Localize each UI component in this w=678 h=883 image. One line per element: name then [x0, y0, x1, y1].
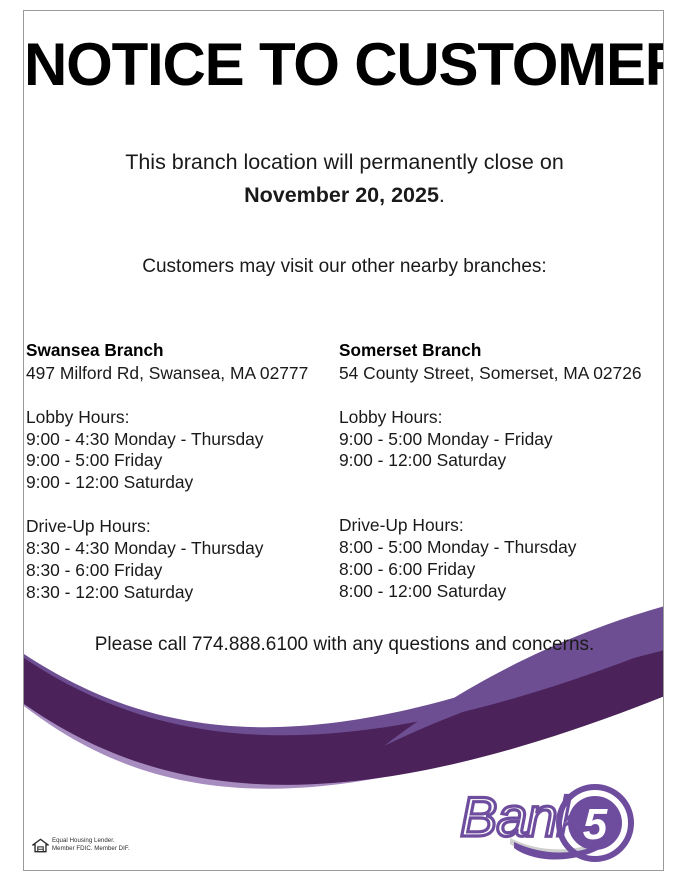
driveup-hours-line: 8:30 - 4:30 Monday - Thursday	[26, 538, 346, 560]
legal-line-2: Member FDIC. Member DIF.	[52, 845, 130, 854]
lobby-hours-line: 9:00 - 5:00 Monday - Friday	[339, 429, 664, 451]
swoosh-corner-wedge	[384, 606, 664, 746]
intro-text-before: This branch location will permanently cl…	[125, 150, 564, 174]
branch-name: Somerset Branch	[339, 340, 664, 362]
notice-page: NOTICE TO CUSTOMERS This branch location…	[23, 10, 664, 871]
driveup-hours-line: 8:00 - 12:00 Saturday	[339, 581, 664, 603]
logo-badge-number: 5	[583, 800, 608, 849]
branch-list: Swansea Branch 497 Milford Rd, Swansea, …	[24, 340, 664, 620]
lobby-hours-title: Lobby Hours:	[339, 407, 664, 429]
driveup-hours-line: 8:30 - 6:00 Friday	[26, 560, 346, 582]
driveup-hours-block: Drive-Up Hours: 8:00 - 5:00 Monday - Thu…	[339, 515, 664, 603]
lobby-hours-line: 9:00 - 12:00 Saturday	[339, 450, 664, 472]
bank5-logo: 5 Bank	[452, 766, 662, 866]
lobby-hours-title: Lobby Hours:	[26, 407, 346, 429]
driveup-hours-line: 8:00 - 6:00 Friday	[339, 559, 664, 581]
legal-line-1: Equal Housing Lender.	[52, 837, 130, 846]
lobby-hours-block: Lobby Hours: 9:00 - 4:30 Monday - Thursd…	[26, 407, 346, 495]
driveup-hours-block: Drive-Up Hours: 8:30 - 4:30 Monday - Thu…	[26, 516, 346, 604]
driveup-hours-line: 8:30 - 12:00 Saturday	[26, 582, 346, 604]
lobby-hours-line: 9:00 - 12:00 Saturday	[26, 472, 346, 494]
legal-text-block: Equal Housing Lender. Member FDIC. Membe…	[52, 837, 130, 854]
contact-phone-line: Please call 774.888.6100 with any questi…	[24, 634, 664, 656]
lobby-hours-line: 9:00 - 5:00 Friday	[26, 450, 346, 472]
subintro-text: Customers may visit our other nearby bra…	[24, 256, 664, 278]
lobby-hours-block: Lobby Hours: 9:00 - 5:00 Monday - Friday…	[339, 407, 664, 473]
equal-housing-lender-icon	[32, 838, 49, 853]
branch-address: 497 Milford Rd, Swansea, MA 02777	[26, 363, 346, 385]
driveup-hours-title: Drive-Up Hours:	[339, 515, 664, 537]
swoosh-dark-band	[24, 646, 664, 785]
driveup-hours-line: 8:00 - 5:00 Monday - Thursday	[339, 537, 664, 559]
branch-column-somerset: Somerset Branch 54 County Street, Somers…	[339, 340, 664, 603]
footer-legal: Equal Housing Lender. Member FDIC. Membe…	[32, 837, 130, 854]
branch-column-swansea: Swansea Branch 497 Milford Rd, Swansea, …	[26, 340, 346, 604]
branch-name: Swansea Branch	[26, 340, 346, 362]
close-date: November 20, 2025	[244, 183, 439, 207]
intro-paragraph: This branch location will permanently cl…	[24, 146, 664, 211]
driveup-hours-title: Drive-Up Hours:	[26, 516, 346, 538]
branch-address: 54 County Street, Somerset, MA 02726	[339, 363, 664, 385]
page-title: NOTICE TO CUSTOMERS	[24, 33, 664, 96]
logo-wordmark: Bank	[460, 785, 588, 848]
lobby-hours-line: 9:00 - 4:30 Monday - Thursday	[26, 429, 346, 451]
intro-text-after: .	[439, 183, 445, 207]
